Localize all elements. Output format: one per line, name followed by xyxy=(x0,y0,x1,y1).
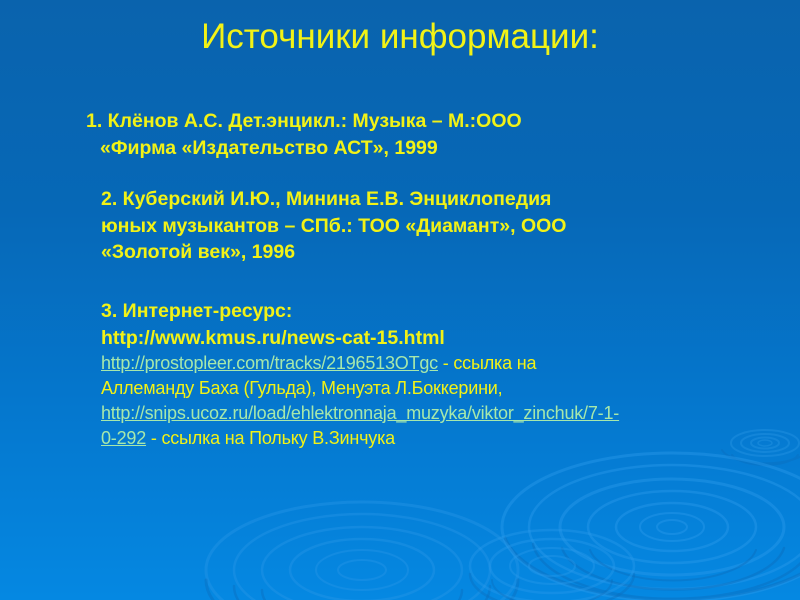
source-item-1: 1. Клёнов А.С. Дет.энцикл.: Музыка – М.:… xyxy=(86,108,686,161)
source-3-link-1-description: Аллеманду Баха (Гульда), Менуэта Л.Бокке… xyxy=(101,376,741,401)
snips-ucoz-link-part1[interactable]: http://snips.ucoz.ru/load/ehlektronnaja_… xyxy=(101,403,619,423)
source-2-line-2: юных музыкантов – СПб.: ТОО «Диамант», О… xyxy=(101,213,711,240)
source-item-3: 3. Интернет-ресурс: http://www.kmus.ru/n… xyxy=(101,298,741,451)
slide-title: Источники информации: xyxy=(0,16,800,58)
prostopleer-link[interactable]: http://prostopleer.com/tracks/2196513OTg… xyxy=(101,353,438,373)
source-3-link-2-row-b: 0-292 - ссылка на Польку В.Зинчука xyxy=(101,426,741,451)
source-3-link-1-row: http://prostopleer.com/tracks/2196513OTg… xyxy=(101,351,741,376)
slide-canvas: Источники информации: 1. Клёнов А.С. Дет… xyxy=(0,0,800,600)
source-2-line-3: «Золотой век», 1996 xyxy=(101,239,711,266)
source-3-link-2-row-a: http://snips.ucoz.ru/load/ehlektronnaja_… xyxy=(101,401,741,426)
source-item-2: 2. Куберский И.Ю., Минина Е.В. Энциклопе… xyxy=(101,186,711,266)
source-3-link-2-note: - ссылка на Польку В.Зинчука xyxy=(146,428,395,448)
source-3-url-plain: http://www.kmus.ru/news-cat-15.html xyxy=(101,325,741,352)
source-1-line-2: «Фирма «Издательство АСТ», 1999 xyxy=(86,135,686,162)
source-1-line-1: 1. Клёнов А.С. Дет.энцикл.: Музыка – М.:… xyxy=(86,110,522,132)
snips-ucoz-link-part2[interactable]: 0-292 xyxy=(101,428,146,448)
source-2-line-1: 2. Куберский И.Ю., Минина Е.В. Энциклопе… xyxy=(101,186,711,213)
source-3-line-1: 3. Интернет-ресурс: xyxy=(101,298,741,325)
source-3-link-1-note: - ссылка на xyxy=(438,353,536,373)
